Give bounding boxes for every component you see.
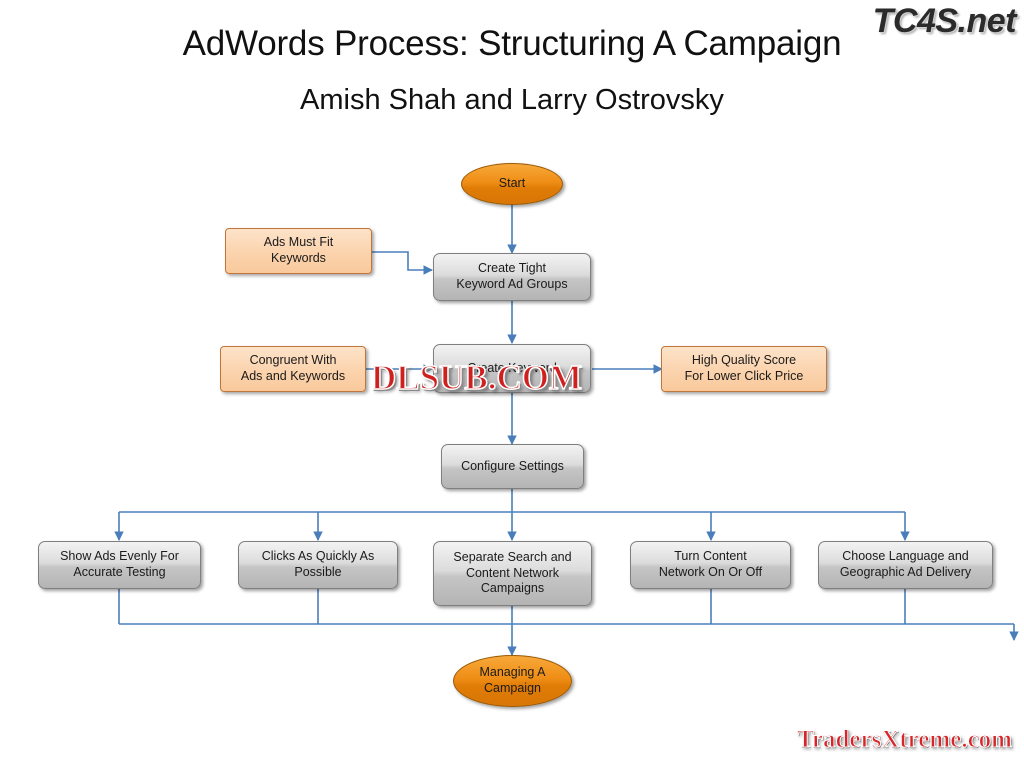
node-clicks-as-quickly-as-possible-label: Clicks As Quickly AsPossible [262,549,375,580]
node-congruent-with-ads-and-keywords-label: Congruent WithAds and Keywords [241,353,345,384]
node-choose-language-and-geographic-ad-delivery[interactable]: Choose Language andGeographic Ad Deliver… [818,541,993,589]
node-turn-content-network-on-or-off[interactable]: Turn ContentNetwork On Or Off [630,541,791,589]
watermark-dlsub: DLSUB.COM [371,358,582,398]
watermark-tradersxtreme: TradersXtreme.com [797,726,1012,754]
watermark-tc4s: TC4S.net [873,2,1016,41]
node-ads-must-fit-keywords[interactable]: Ads Must FitKeywords [225,228,372,274]
node-create-tight-keyword-ad-groups[interactable]: Create TightKeyword Ad Groups [433,253,591,301]
node-separate-search-and-content-network-campaigns-label: Separate Search andContent NetworkCampai… [453,550,571,597]
node-ads-must-fit-keywords-label: Ads Must FitKeywords [264,235,333,266]
node-high-quality-score[interactable]: High Quality ScoreFor Lower Click Price [661,346,827,392]
node-choose-language-and-geographic-ad-delivery-label: Choose Language andGeographic Ad Deliver… [840,549,971,580]
node-managing-a-campaign[interactable]: Managing ACampaign [453,655,572,707]
node-start[interactable]: Start [461,163,563,205]
node-show-ads-evenly[interactable]: Show Ads Evenly ForAccurate Testing [38,541,201,589]
node-configure-settings-label: Configure Settings [461,459,564,475]
slide-canvas: AdWords Process: Structuring A Campaign … [0,0,1024,768]
node-clicks-as-quickly-as-possible[interactable]: Clicks As Quickly AsPossible [238,541,398,589]
node-high-quality-score-label: High Quality ScoreFor Lower Click Price [685,353,804,384]
node-separate-search-and-content-network-campaigns[interactable]: Separate Search andContent NetworkCampai… [433,541,592,606]
page-subtitle: Amish Shah and Larry Ostrovsky [0,84,1024,117]
node-turn-content-network-on-or-off-label: Turn ContentNetwork On Or Off [659,549,762,580]
node-configure-settings[interactable]: Configure Settings [441,444,584,489]
page-title: AdWords Process: Structuring A Campaign [0,24,1024,64]
node-managing-a-campaign-label: Managing ACampaign [479,665,545,696]
node-start-label: Start [499,176,525,192]
node-create-tight-keyword-ad-groups-label: Create TightKeyword Ad Groups [456,261,567,292]
node-congruent-with-ads-and-keywords[interactable]: Congruent WithAds and Keywords [220,346,366,392]
node-show-ads-evenly-label: Show Ads Evenly ForAccurate Testing [60,549,179,580]
